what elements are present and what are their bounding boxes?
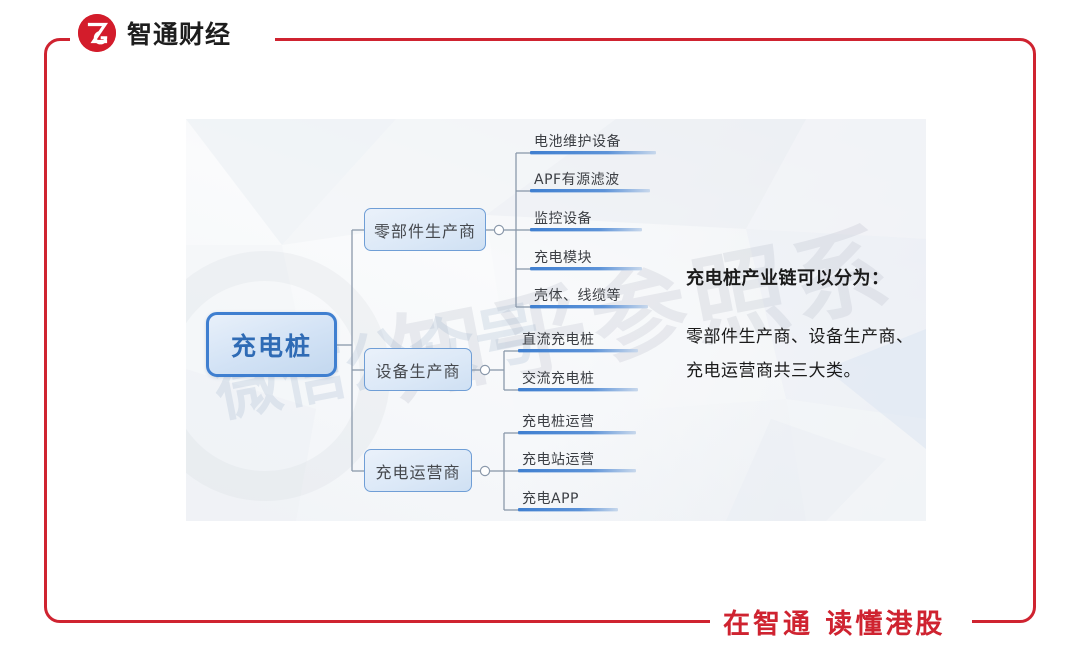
mindmap-leaf[interactable]: 电池维护设备 (534, 131, 621, 151)
summary-text-block: 充电桩产业链可以分为： 零部件生产商、设备生产商、 充电运营商共三大类。 (686, 264, 936, 388)
footer-slogan: 在智通 读懂港股 (723, 602, 945, 641)
mindmap-leaf[interactable]: 交流充电桩 (522, 368, 595, 388)
summary-body-line: 充电运营商共三大类。 (686, 354, 936, 388)
mindmap-leaf[interactable]: 充电APP (522, 488, 579, 508)
mindmap-branch-node-equipment-maker[interactable]: 设备生产商 (364, 348, 472, 391)
summary-body-line: 零部件生产商、设备生产商、 (686, 320, 936, 354)
mindmap-leaf[interactable]: 监控设备 (534, 208, 592, 228)
mindmap-root-node[interactable]: 充电桩 (206, 312, 337, 377)
mindmap-leaf[interactable]: 壳体、线缆等 (534, 285, 621, 305)
mindmap-branch-node-parts-maker[interactable]: 零部件生产商 (364, 208, 486, 251)
mindmap-leaf[interactable]: 充电站运营 (522, 449, 595, 469)
mindmap-leaf[interactable]: APF有源滤波 (534, 169, 620, 189)
brand-title: 智通财经 (127, 15, 231, 51)
mindmap-branch-node-charging-operator[interactable]: 充电运营商 (364, 449, 472, 492)
mindmap-leaf[interactable]: 直流充电桩 (522, 329, 595, 349)
header: 智通财经 (78, 14, 231, 52)
mindmap-leaf[interactable]: 充电模块 (534, 247, 592, 267)
brand-logo-icon (78, 14, 116, 52)
mindmap-leaf[interactable]: 充电桩运营 (522, 411, 595, 431)
summary-heading: 充电桩产业链可以分为： (686, 264, 936, 290)
